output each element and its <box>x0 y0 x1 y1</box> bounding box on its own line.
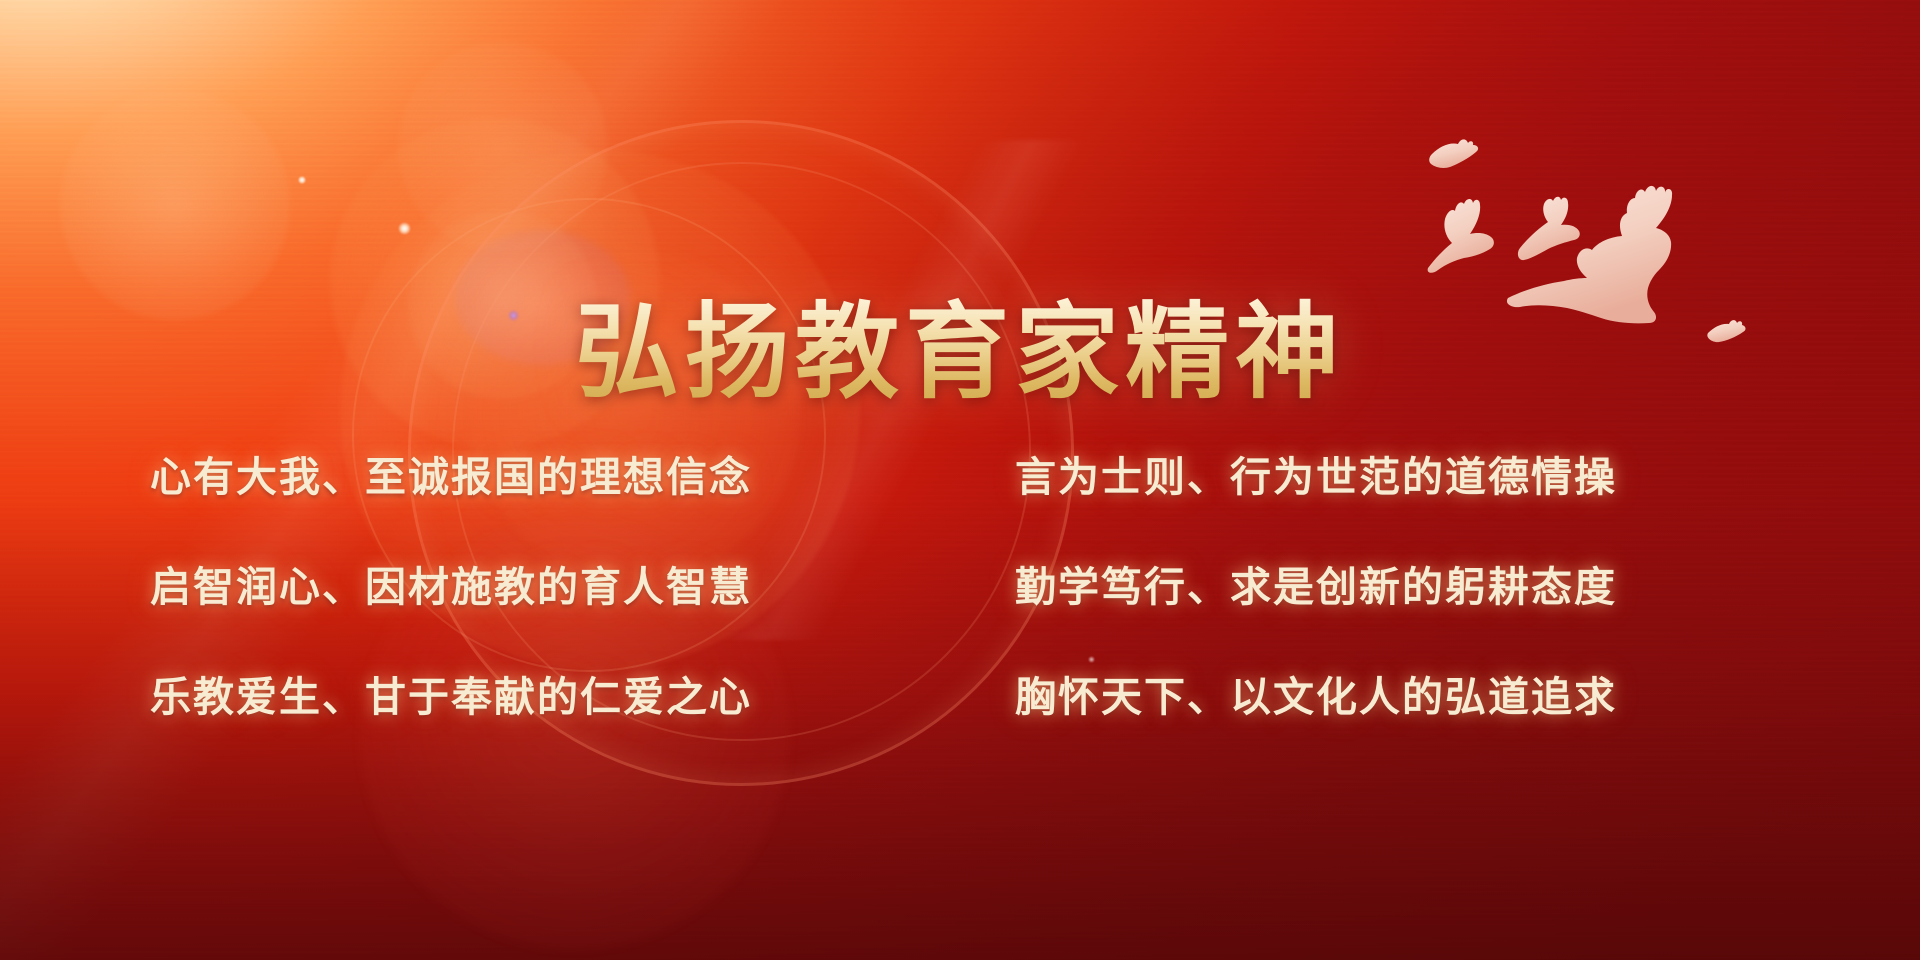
banner-content: 弘扬教育家精神 心有大我、至诚报国的理想信念 言为士则、行为世范的道德情操 启智… <box>0 0 1920 960</box>
page-title: 弘扬教育家精神 <box>0 296 1920 408</box>
slogan-right-1: 言为士则、行为世范的道德情操 <box>1015 452 1617 502</box>
slogan-right-3: 胸怀天下、以文化人的弘道追求 <box>1015 672 1617 722</box>
slogan-left-2: 启智润心、因材施教的育人智慧 <box>150 562 752 612</box>
slogan-left-3: 乐教爱生、甘于奉献的仁爱之心 <box>150 672 752 722</box>
slogan-left-1: 心有大我、至诚报国的理想信念 <box>150 452 752 502</box>
slogan-grid: 心有大我、至诚报国的理想信念 言为士则、行为世范的道德情操 启智润心、因材施教的… <box>0 452 1920 722</box>
banner-root: 弘扬教育家精神 心有大我、至诚报国的理想信念 言为士则、行为世范的道德情操 启智… <box>0 0 1920 960</box>
slogan-right-2: 勤学笃行、求是创新的躬耕态度 <box>1015 562 1617 612</box>
